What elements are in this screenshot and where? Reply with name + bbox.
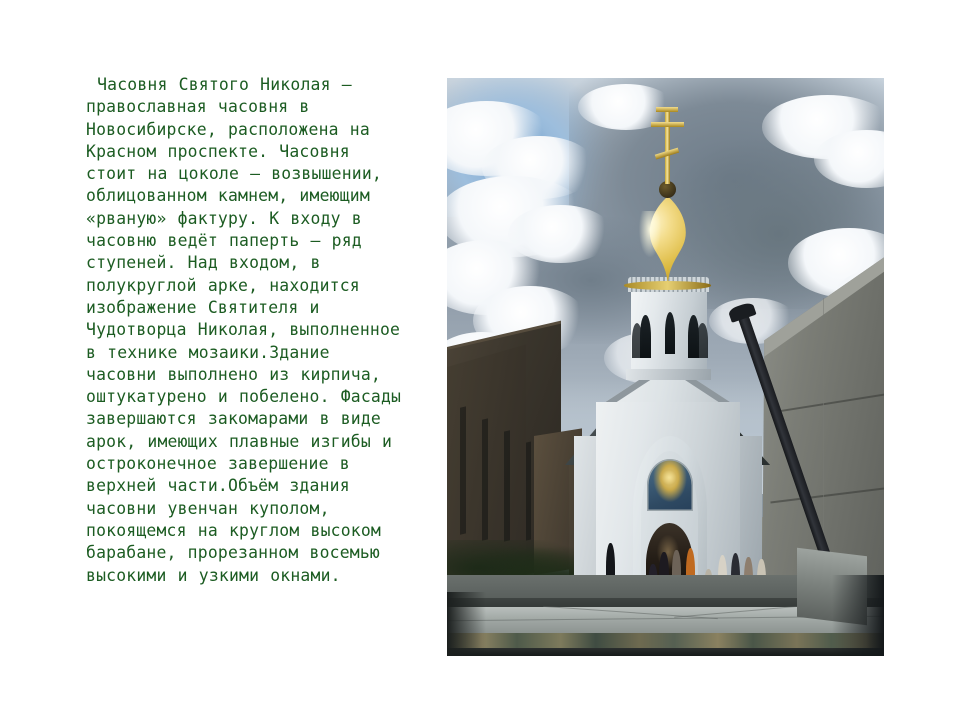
- drum-window: [697, 323, 707, 358]
- drum-window: [632, 323, 642, 358]
- building-window-column: [482, 418, 488, 541]
- right-vignette: [832, 575, 884, 656]
- dome-highlight: [639, 211, 661, 257]
- chapel-description-text: Часовня Святого Николая —православная ча…: [86, 74, 406, 587]
- drum-window: [665, 312, 675, 355]
- building-window-column: [460, 407, 466, 536]
- orthodox-cross-upper-bar: [656, 107, 678, 112]
- left-vignette: [447, 592, 486, 656]
- building-window-column: [526, 442, 531, 541]
- chapel-photograph: [447, 78, 884, 656]
- orthodox-cross-icon: [665, 109, 670, 184]
- building-window-column: [504, 430, 510, 541]
- orthodox-cross-main-bar: [651, 122, 684, 127]
- drum-base-cornice: [626, 369, 711, 379]
- bottom-step-shadow: [447, 648, 884, 656]
- presentation-slide: Часовня Святого Николая —православная ча…: [0, 0, 960, 720]
